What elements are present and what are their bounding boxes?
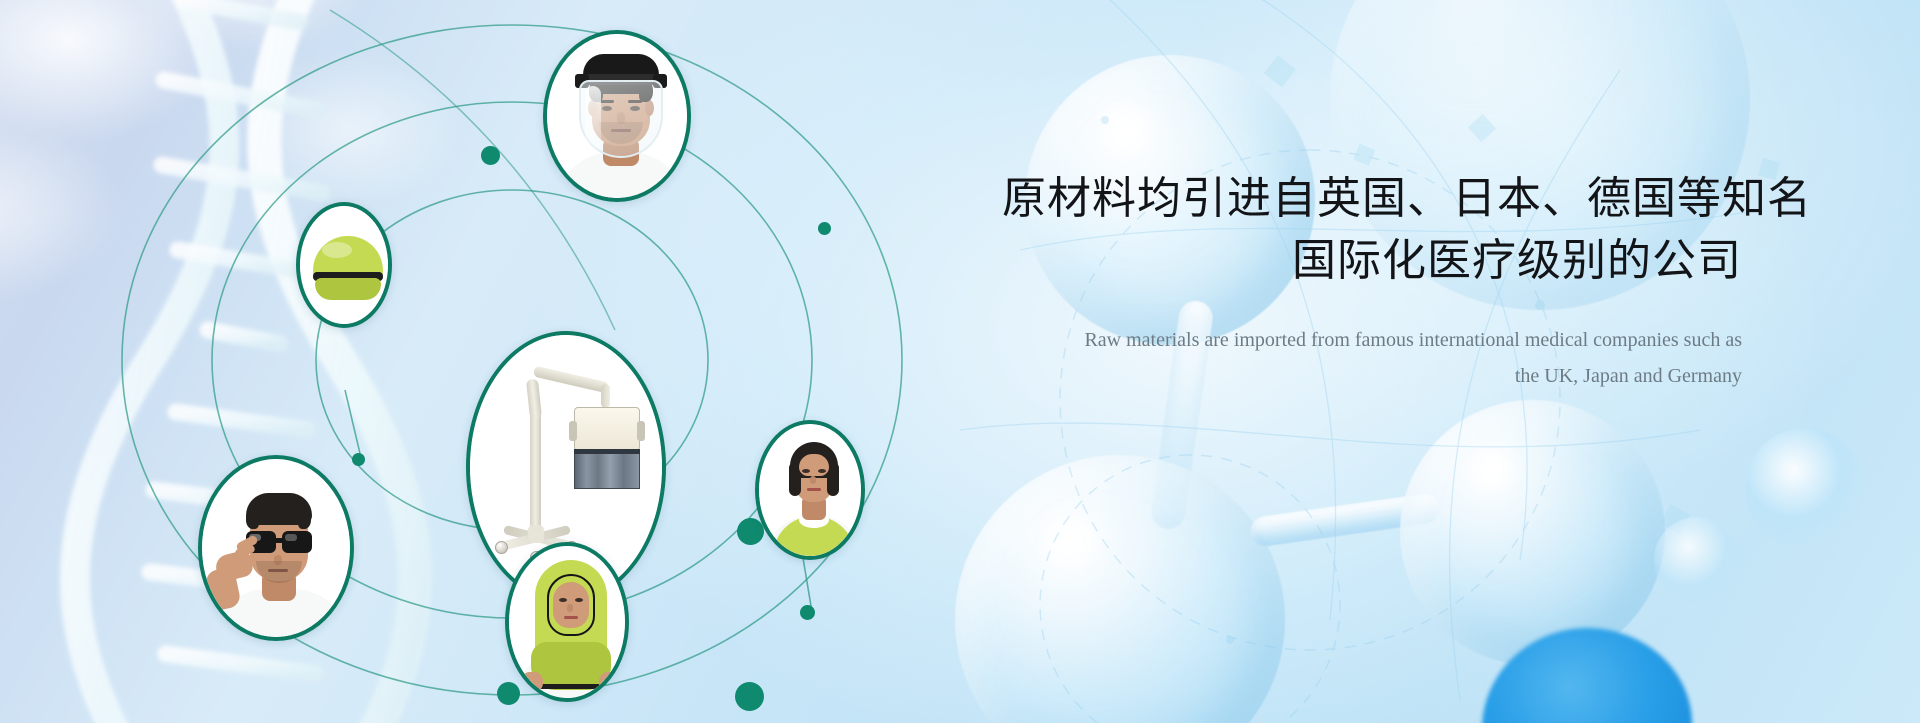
headline: 原材料均引进自英国、日本、德国等知名 国际化医疗级别的公司: [1002, 168, 1742, 293]
subtitle-line-1: Raw materials are imported from famous i…: [1084, 329, 1742, 351]
banner-copy: 原材料均引进自英国、日本、德国等知名 国际化医疗级别的公司 Raw materi…: [1002, 168, 1742, 394]
molecule-sphere-right: [1400, 400, 1665, 665]
bubble-protective-eyewear-technician[interactable]: [198, 455, 354, 641]
lead-cap-photo: [300, 206, 388, 324]
bubble-lead-cap[interactable]: [296, 202, 392, 328]
blue-glow-tiny: [1654, 517, 1740, 603]
bubble-face-shield-technician[interactable]: [543, 30, 691, 202]
headline-line-2: 国际化医疗级别的公司: [1002, 230, 1742, 292]
orbit-graphic: [0, 0, 960, 723]
protective-eyewear-technician-photo: [202, 459, 350, 637]
molecule-sphere-left: [955, 455, 1285, 723]
blue-glow-small: [1745, 428, 1865, 548]
node-dot-1: [481, 146, 500, 165]
thyroid-collar-woman-photo: [759, 424, 861, 556]
subtitle: Raw materials are imported from famous i…: [1002, 323, 1742, 394]
node-dot-7: [737, 518, 764, 545]
orbit-rings: [0, 0, 960, 723]
bubble-lead-hood-woman[interactable]: [505, 542, 629, 702]
lead-hood-woman-photo: [509, 546, 625, 698]
blue-blob-accent: [1482, 628, 1692, 723]
hero-banner: 原材料均引进自英国、日本、德国等知名 国际化医疗级别的公司 Raw materi…: [0, 0, 1920, 723]
face-shield-technician-photo: [547, 34, 687, 198]
subtitle-line-2: the UK, Japan and Germany: [1002, 359, 1742, 395]
headline-line-1: 原材料均引进自英国、日本、德国等知名: [1002, 174, 1812, 223]
molecule-bond-horizontal: [1249, 492, 1441, 548]
bubble-thyroid-collar-woman[interactable]: [755, 420, 865, 560]
node-dot-4: [800, 605, 815, 620]
node-dot-3: [352, 453, 365, 466]
node-dot-2: [818, 222, 831, 235]
node-dot-5: [735, 682, 764, 711]
